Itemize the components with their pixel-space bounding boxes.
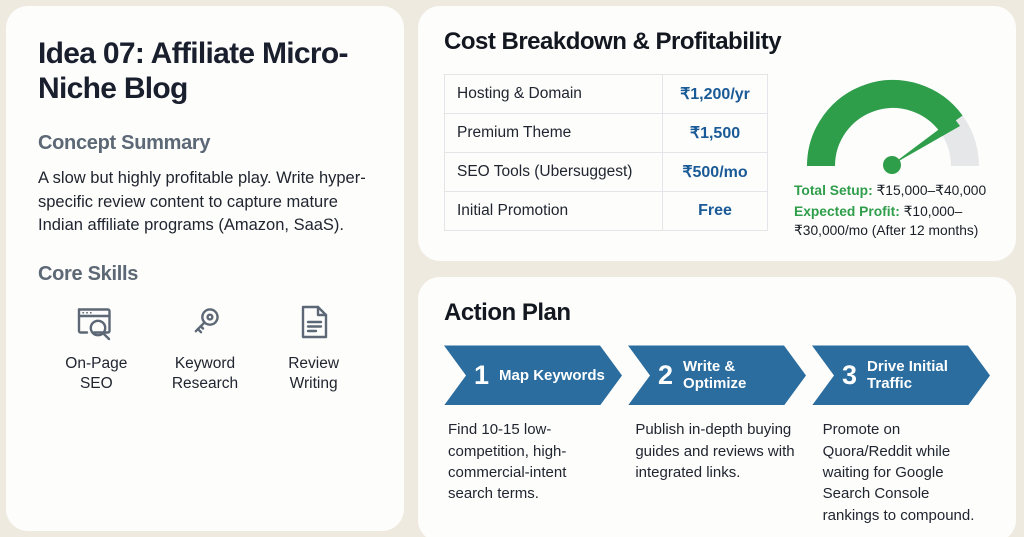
table-row: SEO Tools (Ubersuggest) ₹500/mo: [445, 153, 768, 192]
step-label: Write & Optimize: [683, 358, 746, 393]
gauge-chart-icon: [794, 76, 982, 182]
cost-item-value: ₹1,200/yr: [663, 75, 768, 114]
table-row: Hosting & Domain ₹1,200/yr: [445, 75, 768, 114]
step-chevron-3[interactable]: 3 Drive Initial Traffic: [812, 345, 990, 405]
concept-summary-text: A slow but highly profitable play. Write…: [38, 167, 372, 237]
step-number: 1: [474, 362, 489, 389]
step-number: 3: [842, 362, 857, 389]
skill-label: On-Page SEO: [65, 354, 127, 393]
skill-label: Review Writing: [288, 354, 339, 393]
slide-root: Idea 07: Affiliate Micro-Niche Blog Conc…: [0, 0, 1024, 537]
total-setup-row: Total Setup: ₹15,000–₹40,000: [794, 182, 990, 200]
step-number: 2: [658, 362, 673, 389]
idea-summary-card: Idea 07: Affiliate Micro-Niche Blog Conc…: [6, 6, 404, 531]
cost-item-label: SEO Tools (Ubersuggest): [445, 153, 663, 192]
skill-item-review-writing: Review Writing: [260, 300, 368, 393]
page-title: Idea 07: Affiliate Micro-Niche Blog: [38, 36, 372, 106]
step-label: Map Keywords: [499, 367, 605, 384]
expected-profit-row: Expected Profit: ₹10,000–₹30,000/mo (Aft…: [794, 203, 990, 240]
key-icon: [183, 300, 227, 344]
step-description-2: Publish in-depth buying guides and revie…: [635, 419, 802, 525]
cost-item-value: Free: [663, 192, 768, 231]
core-skills-list: On-Page SEO Keyword Research: [38, 300, 372, 393]
table-row: Premium Theme ₹1,500: [445, 114, 768, 153]
step-chevron-1[interactable]: 1 Map Keywords: [444, 345, 622, 405]
profitability-summary: Total Setup: ₹15,000–₹40,000 Expected Pr…: [794, 182, 990, 243]
right-column: Cost Breakdown & Profitability Hosting &…: [418, 6, 1016, 531]
cost-item-value: ₹1,500: [663, 114, 768, 153]
cost-card-body: Hosting & Domain ₹1,200/yr Premium Theme…: [444, 74, 990, 243]
cost-item-label: Premium Theme: [445, 114, 663, 153]
action-plan-steps: 1 Map Keywords 2 Write & Optimize 3 Driv…: [444, 345, 990, 405]
browser-search-icon: [74, 300, 118, 344]
document-icon: [292, 300, 336, 344]
cost-card-title: Cost Breakdown & Profitability: [444, 28, 990, 56]
skill-item-keyword-research: Keyword Research: [151, 300, 259, 393]
step-label: Drive Initial Traffic: [867, 358, 948, 393]
expected-profit-label: Expected Profit:: [794, 204, 900, 219]
step-description-1: Find 10-15 low-competition, high-commerc…: [444, 419, 615, 525]
cost-item-label: Hosting & Domain: [445, 75, 663, 114]
cost-item-label: Initial Promotion: [445, 192, 663, 231]
concept-summary-heading: Concept Summary: [38, 132, 372, 155]
core-skills-heading: Core Skills: [38, 263, 372, 286]
step-chevron-2[interactable]: 2 Write & Optimize: [628, 345, 806, 405]
cost-table: Hosting & Domain ₹1,200/yr Premium Theme…: [444, 74, 768, 231]
total-setup-label: Total Setup:: [794, 183, 873, 198]
step-description-3: Promote on Quora/Reddit while waiting fo…: [823, 419, 990, 525]
cost-item-value: ₹500/mo: [663, 153, 768, 192]
action-plan-card: Action Plan 1 Map Keywords 2 Write & Opt…: [418, 277, 1016, 537]
total-setup-value: ₹15,000–₹40,000: [877, 183, 987, 198]
skill-item-on-page-seo: On-Page SEO: [42, 300, 150, 393]
table-row: Initial Promotion Free: [445, 192, 768, 231]
action-plan-descriptions: Find 10-15 low-competition, high-commerc…: [444, 419, 990, 525]
profitability-gauge-block: Total Setup: ₹15,000–₹40,000 Expected Pr…: [794, 74, 990, 243]
skill-label: Keyword Research: [172, 354, 238, 393]
action-plan-title: Action Plan: [444, 299, 990, 327]
cost-breakdown-card: Cost Breakdown & Profitability Hosting &…: [418, 6, 1016, 261]
